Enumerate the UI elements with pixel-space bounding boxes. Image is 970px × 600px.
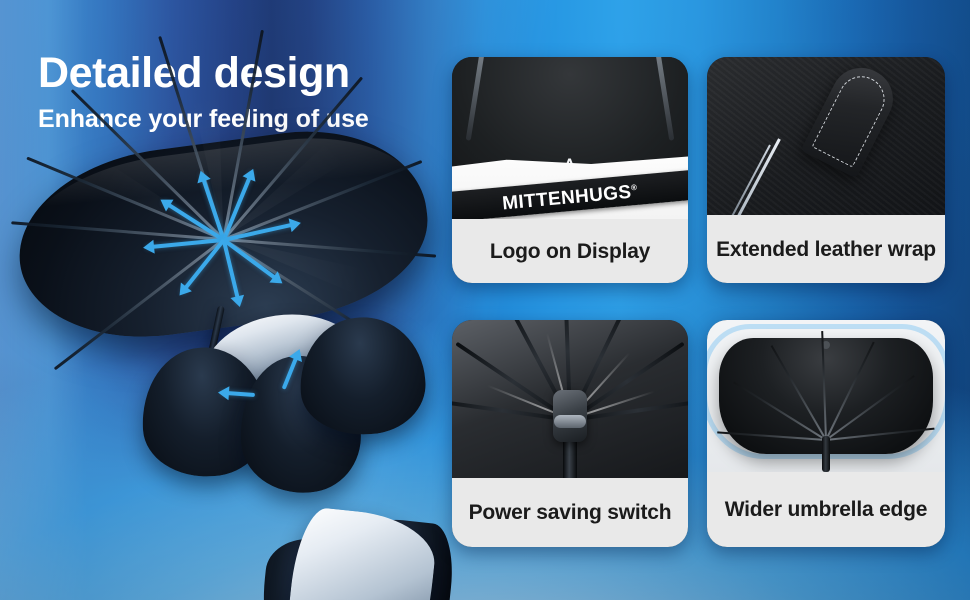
feature-photo-extended-leather-wrap [707, 57, 945, 215]
feature-caption-bar: Wider umbrella edge [707, 472, 945, 547]
stitching-detail [812, 69, 893, 168]
feature-caption-text: Extended leather wrap [716, 237, 936, 262]
feature-caption-bar: Extended leather wrap [707, 215, 945, 283]
page-title: Detailed design [38, 48, 438, 98]
folded-sunshade-bottom [252, 503, 462, 600]
feature-caption-text: Logo on Display [490, 239, 650, 264]
shaft-collar [554, 415, 586, 428]
registered-trademark-icon: ® [631, 183, 638, 193]
feature-card-logo[interactable]: Λ MITTENHUGS MITTENHUGS® Logo on Display [452, 57, 688, 283]
reflective-underside [279, 505, 439, 600]
feature-caption-text: Wider umbrella edge [725, 497, 928, 522]
hero-product-image [0, 120, 450, 600]
feature-caption-bar: Power saving switch [452, 478, 688, 547]
feature-card-wider[interactable]: Wider umbrella edge [707, 320, 945, 547]
leather-wrap-tab [801, 58, 903, 179]
feature-card-power[interactable]: Power saving switch [452, 320, 688, 547]
folding-sunshade-middle [136, 305, 434, 514]
feature-caption-bar: Logo on Display [452, 219, 688, 283]
promo-banner: Detailed design Enhance your feeling of … [0, 0, 970, 600]
feature-photo-power-saving-switch [452, 320, 688, 478]
feature-photo-wider-umbrella-edge [707, 320, 945, 472]
umbrella-handle [822, 436, 830, 472]
feature-card-leather[interactable]: Extended leather wrap [707, 57, 945, 283]
feature-photo-logo-on-display: Λ MITTENHUGS MITTENHUGS® [452, 57, 688, 219]
feature-caption-text: Power saving switch [469, 500, 672, 525]
